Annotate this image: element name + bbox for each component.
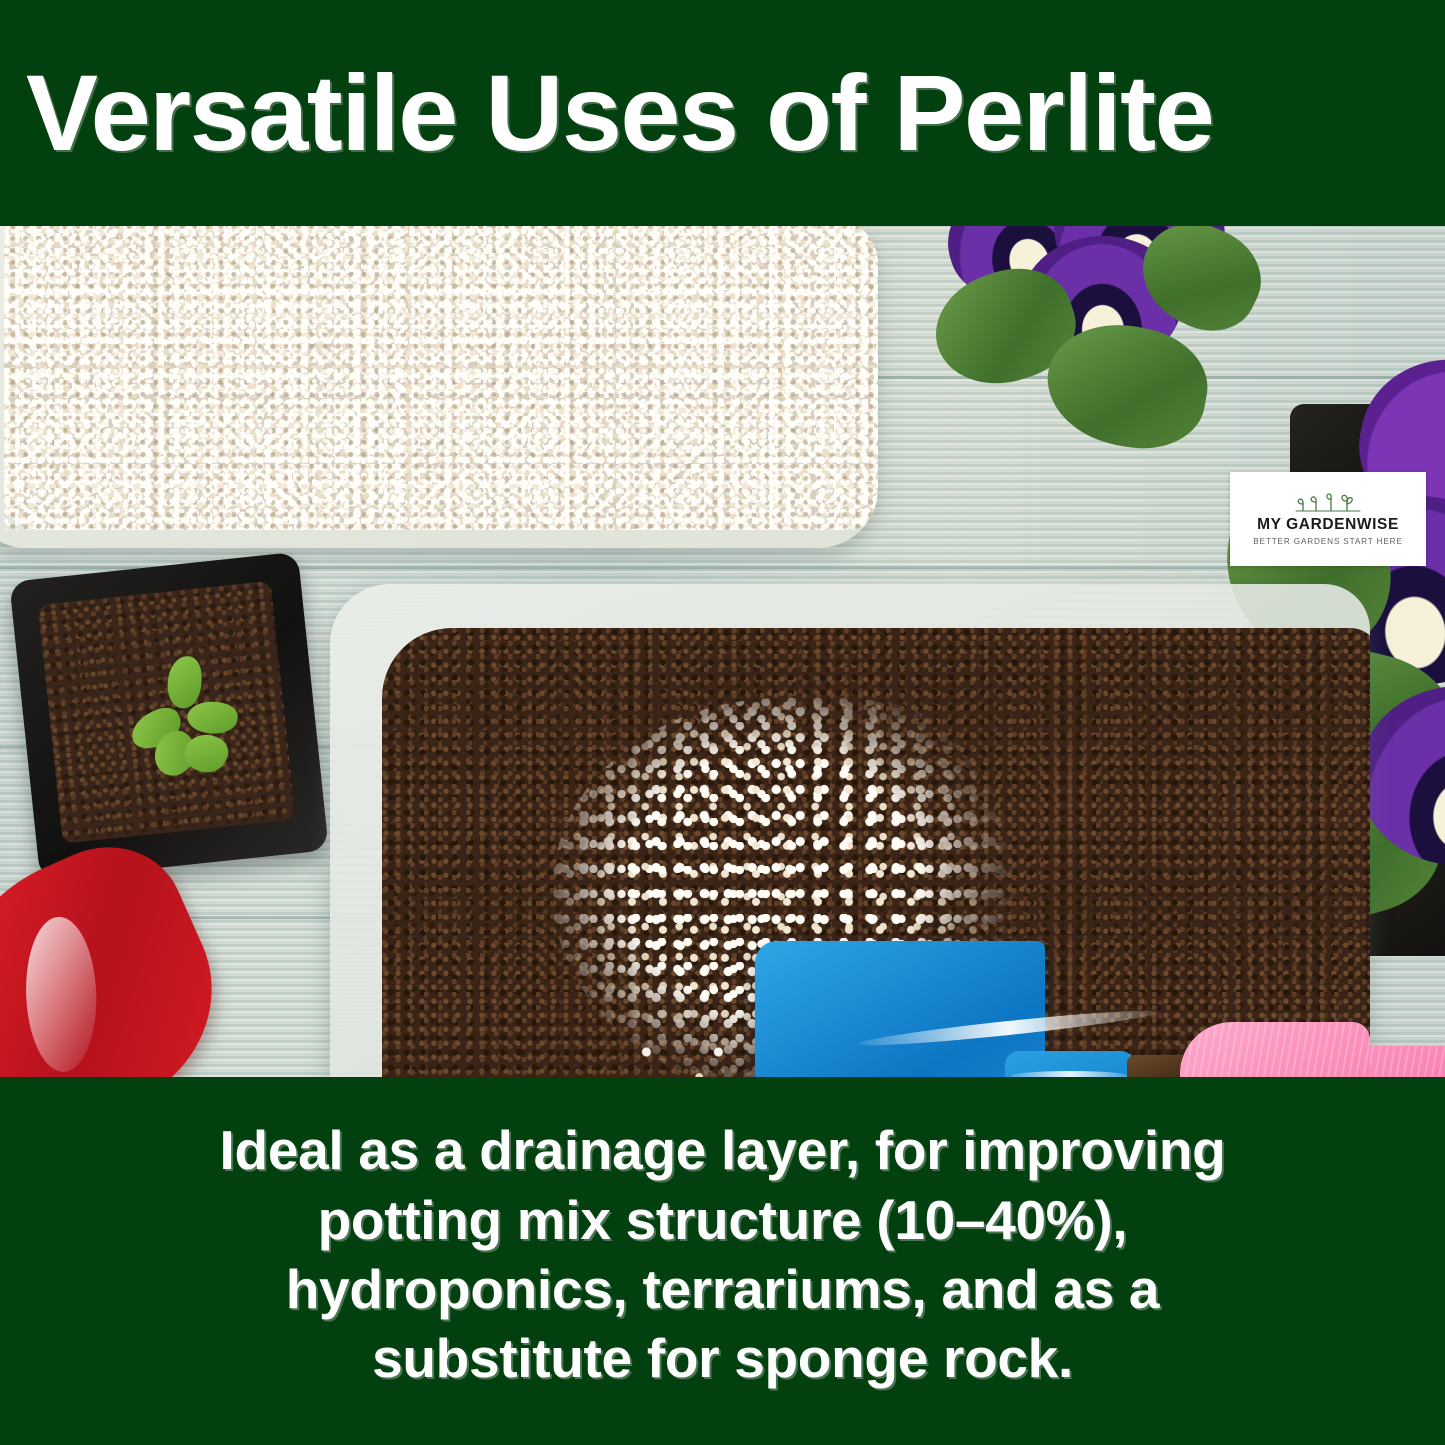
- glove-finger: [1180, 1022, 1370, 1077]
- pink-glove: [1180, 1006, 1445, 1077]
- brand-logo[interactable]: MY GARDENWISE BETTER GARDENS START HERE: [1230, 472, 1426, 566]
- caption-band: Ideal as a drainage layer, for improving…: [0, 1077, 1445, 1445]
- page-title: Versatile Uses of Perlite: [26, 59, 1213, 167]
- blue-trowel-blade: [755, 941, 1045, 1077]
- perlite-uses-infographic: Versatile Uses of Perlite: [0, 0, 1445, 1445]
- logo-name: MY GARDENWISE: [1257, 517, 1399, 533]
- perlite-tray: [0, 226, 878, 548]
- caption-line: potting mix structure (10–40%),: [220, 1186, 1226, 1255]
- caption-line: Ideal as a drainage layer, for improving: [220, 1116, 1226, 1185]
- logo-tagline: BETTER GARDENS START HERE: [1253, 537, 1403, 546]
- seedling-pot: [9, 552, 329, 881]
- caption-line: hydroponics, terrariums, and as a: [220, 1255, 1226, 1324]
- blue-trowel: [755, 931, 1225, 1077]
- photo-panel: MY GARDENWISE BETTER GARDENS START HERE: [0, 226, 1445, 1077]
- blue-trowel-neck-highlight: [1011, 1071, 1129, 1077]
- caption-text: Ideal as a drainage layer, for improving…: [220, 1116, 1226, 1393]
- sprouting-leaves-icon: [1294, 492, 1362, 516]
- caption-line: substitute for sponge rock.: [220, 1324, 1226, 1393]
- pansy-flower: [935, 226, 1235, 456]
- perlite-granules: [4, 226, 878, 530]
- glove-knit-texture: [1180, 1022, 1370, 1077]
- header-band: Versatile Uses of Perlite: [0, 0, 1445, 226]
